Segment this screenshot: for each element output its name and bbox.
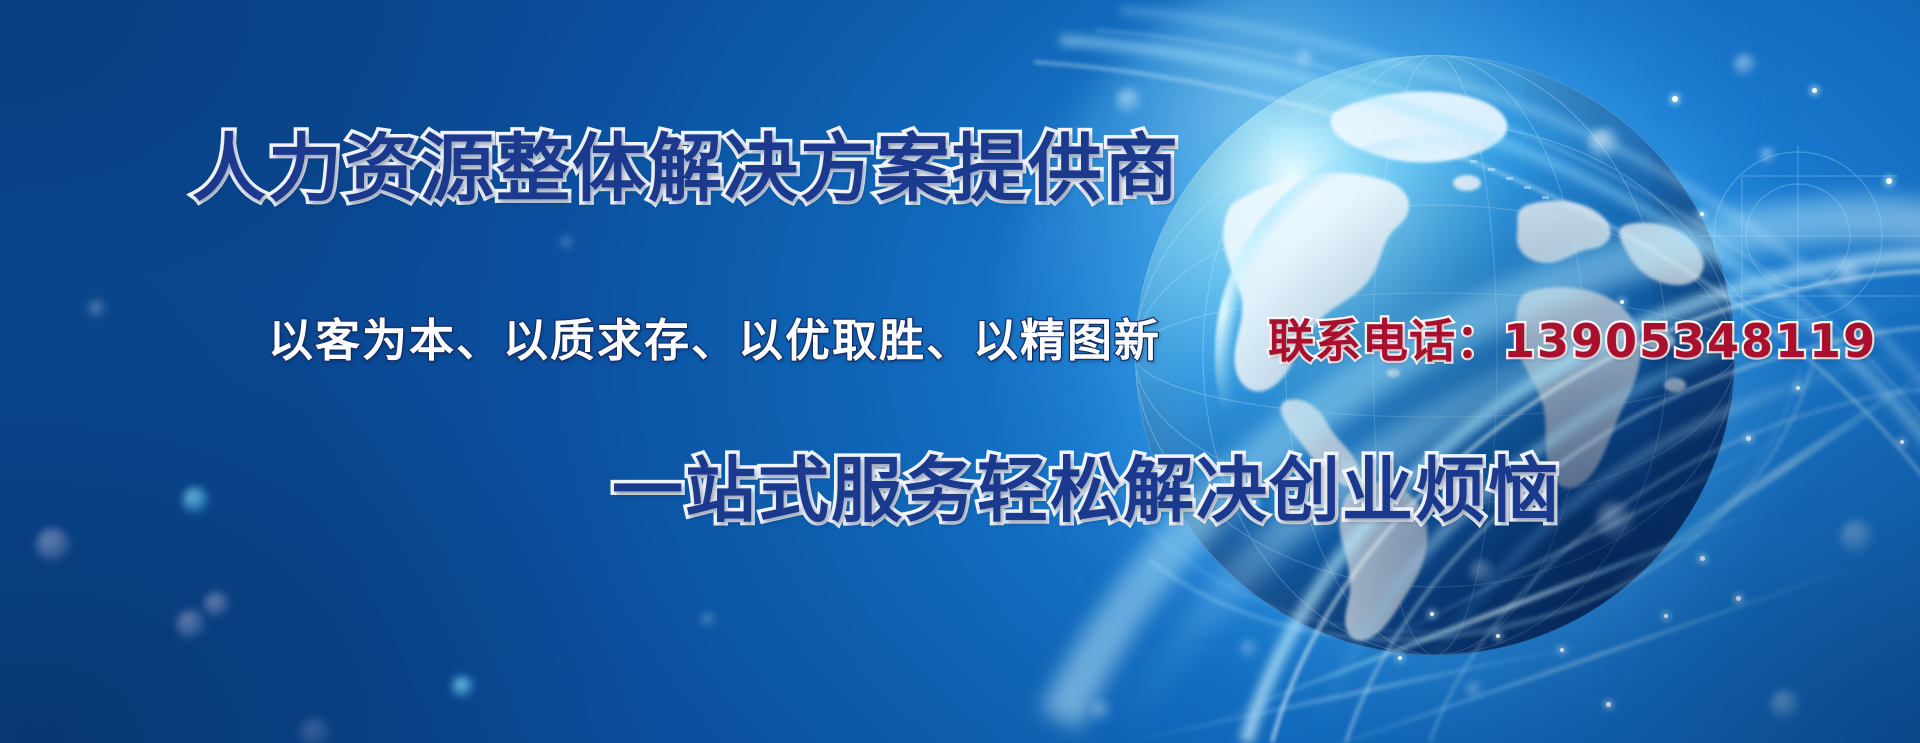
contact-phone-label: 联系电话： [1268, 314, 1503, 368]
banner-text-layer: 人力资源整体解决方案提供商 以客为本、以质求存、以优取胜、以精图新 联系电话：1… [0, 0, 1920, 743]
banner-subheadline: 一站式服务轻松解决创业烦恼 [612, 455, 1561, 526]
banner-headline: 人力资源整体解决方案提供商 [192, 132, 1180, 206]
contact-phone[interactable]: 联系电话：13905348119 [1268, 318, 1877, 364]
contact-phone-number: 13905348119 [1503, 314, 1877, 368]
promotional-banner: 人力资源整体解决方案提供商 以客为本、以质求存、以优取胜、以精图新 联系电话：1… [0, 0, 1920, 743]
banner-tagline: 以客为本、以质求存、以优取胜、以精图新 [268, 318, 1161, 363]
